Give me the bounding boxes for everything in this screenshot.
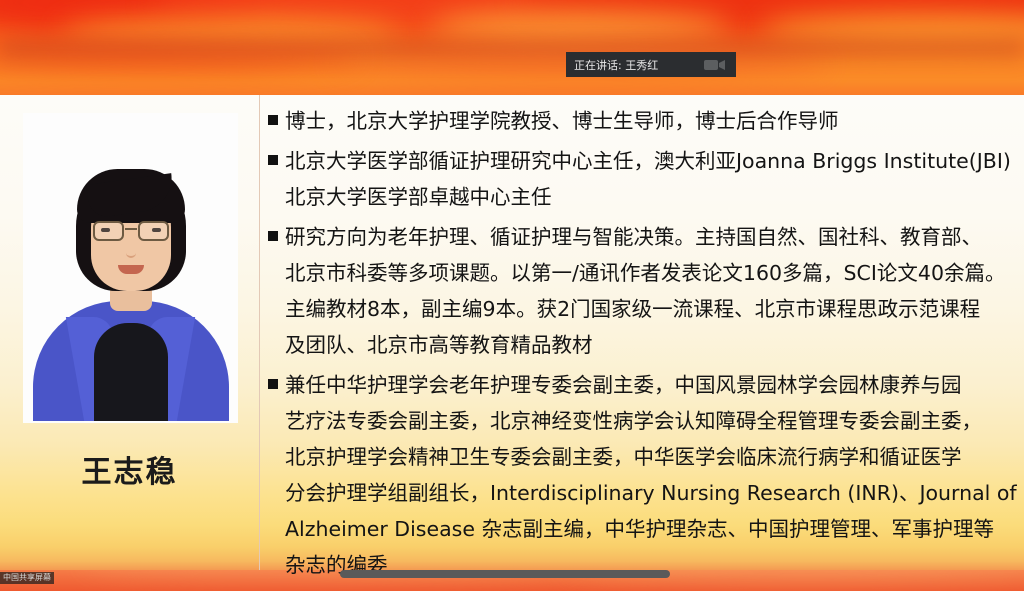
speaker-column: 王志稳 (0, 95, 259, 570)
bullet-line: Alzheimer Disease 杂志副主编，中华护理杂志、中国护理管理、军事… (285, 511, 1024, 547)
cloud-shape (520, 0, 1024, 32)
bullet-item: 研究方向为老年护理、循证护理与智能决策。主持国自然、国社科、教育部、北京市科委等… (268, 219, 1024, 363)
bullet-line: 研究方向为老年护理、循证护理与智能决策。主持国自然、国社科、教育部、 (285, 219, 1024, 255)
screen-share-watermark: 中国共享屏幕 (0, 572, 54, 584)
bullet-text: 兼任中华护理学会老年护理专委会副主委，中国风景园林学会园林康养与园艺疗法专委会副… (285, 367, 1024, 583)
bullet-line: 及团队、北京市高等教育精品教材 (285, 327, 1024, 363)
speaker-name: 王志稳 (0, 447, 259, 491)
portrait-lens-right (138, 221, 169, 241)
bullet-line: 博士，北京大学护理学院教授、博士生导师，博士后合作导师 (285, 103, 1024, 139)
bullet-item: 博士，北京大学护理学院教授、博士生导师，博士后合作导师 (268, 103, 1024, 139)
bullet-line: 北京大学医学部卓越中心主任 (285, 179, 1024, 215)
bullet-line: 兼任中华护理学会老年护理专委会副主委，中国风景园林学会园林康养与园 (285, 367, 1024, 403)
cloud-shape (150, 0, 570, 26)
slide-column-divider (259, 95, 260, 570)
square-bullet-icon (268, 379, 278, 389)
video-camera-icon (702, 57, 728, 72)
portrait-glasses-bridge (125, 228, 137, 230)
bullet-line: 分会护理学组副组长，Interdisciplinary Nursing Rese… (285, 475, 1024, 511)
portrait-illustration (23, 113, 238, 423)
bullet-line: 主编教材8本，副主编9本。获2门国家级一流课程、北京市课程思政示范课程 (285, 291, 1024, 327)
speaking-indicator-label: 正在讲话: 王秀红 (574, 57, 658, 73)
cloud-shape (430, 10, 730, 44)
bullet-line: 北京市科委等多项课题。以第一/通讯作者发表论文160多篇，SCI论文40余篇。 (285, 255, 1024, 291)
bullet-line: 北京大学医学部循证护理研究中心主任，澳大利亚Joanna Briggs Inst… (285, 143, 1024, 179)
speaker-photo (23, 113, 238, 423)
presentation-progress-bar[interactable] (340, 570, 670, 578)
bullet-text: 研究方向为老年护理、循证护理与智能决策。主持国自然、国社科、教育部、北京市科委等… (285, 219, 1024, 363)
square-bullet-icon (268, 155, 278, 165)
bullet-item: 兼任中华护理学会老年护理专委会副主委，中国风景园林学会园林康养与园艺疗法专委会副… (268, 367, 1024, 583)
square-bullet-icon (268, 115, 278, 125)
bullet-line: 艺疗法专委会副主委，北京神经变性病学会认知障碍全程管理专委会副主委， (285, 403, 1024, 439)
presentation-slide: 王志稳 博士，北京大学护理学院教授、博士生导师，博士后合作导师北京大学医学部循证… (0, 95, 1024, 570)
bullet-item: 北京大学医学部循证护理研究中心主任，澳大利亚Joanna Briggs Inst… (268, 143, 1024, 215)
square-bullet-icon (268, 231, 278, 241)
horizon-ridge (0, 40, 1024, 66)
portrait-shirt (94, 323, 168, 421)
bullet-list: 博士，北京大学护理学院教授、博士生导师，博士后合作导师北京大学医学部循证护理研究… (268, 103, 1024, 563)
portrait-nose (126, 247, 136, 258)
bullet-text: 博士，北京大学护理学院教授、博士生导师，博士后合作导师 (285, 103, 1024, 139)
cloud-shape (0, 0, 260, 32)
speaking-indicator: 正在讲话: 王秀红 (566, 52, 736, 77)
glasses-icon (92, 221, 170, 241)
bullet-line: 北京护理学会精神卫生专委会副主委，中华医学会临床流行病学和循证医学 (285, 439, 1024, 475)
bullet-text: 北京大学医学部循证护理研究中心主任，澳大利亚Joanna Briggs Inst… (285, 143, 1024, 215)
portrait-lens-left (93, 221, 124, 241)
screen-share-view: 王志稳 博士，北京大学护理学院教授、博士生导师，博士后合作导师北京大学医学部循证… (0, 0, 1024, 591)
